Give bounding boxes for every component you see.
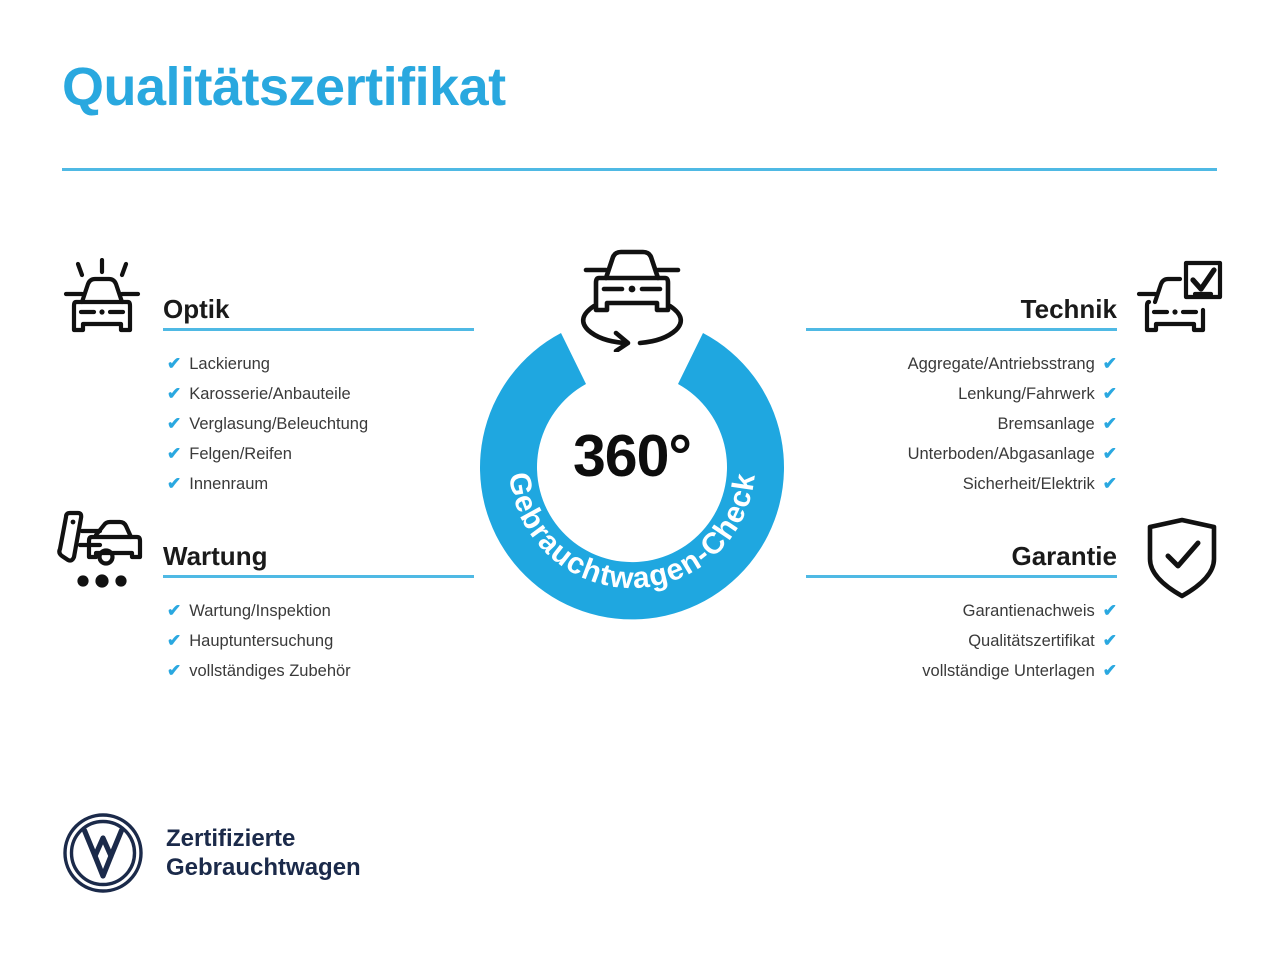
list-item-label: Garantienachweis (963, 596, 1095, 626)
check-icon: ✔ (167, 409, 181, 439)
list-item: vollständige Unterlagen✔ (717, 656, 1117, 686)
vw-lockup-line2: Gebrauchtwagen (166, 853, 361, 882)
list-item-label: vollständiges Zubehör (189, 656, 350, 686)
list-item-label: Qualitätszertifikat (968, 626, 1095, 656)
vw-certified-lockup: Zertifizierte Gebrauchtwagen (62, 812, 361, 894)
check-icon: ✔ (1103, 626, 1117, 656)
list-item-label: Lenkung/Fahrwerk (958, 379, 1095, 409)
check-icon: ✔ (167, 439, 181, 469)
list-item-label: Unterboden/Abgasanlage (908, 439, 1095, 469)
vw-logo (62, 812, 144, 894)
shield-check-icon (1136, 512, 1228, 604)
check-icon: ✔ (167, 349, 181, 379)
check-icon: ✔ (167, 596, 181, 626)
list-item: ✔Hauptuntersuchung (163, 626, 563, 656)
check-icon: ✔ (1103, 596, 1117, 626)
list-item-label: Lackierung (189, 349, 270, 379)
car-checkbox-icon (1132, 258, 1224, 350)
check-icon: ✔ (1103, 656, 1117, 686)
list-item-label: Bremsanlage (998, 409, 1095, 439)
list-item-label: Karosserie/Anbauteile (189, 379, 350, 409)
list-item-label: Felgen/Reifen (189, 439, 292, 469)
title-divider (62, 168, 1217, 171)
list-item: Qualitätszertifikat✔ (717, 626, 1117, 656)
check-icon: ✔ (1103, 439, 1117, 469)
list-item-label: Innenraum (189, 469, 268, 499)
car-shine-icon (56, 258, 148, 350)
list-item: ✔vollständiges Zubehör (163, 656, 563, 686)
check-icon: ✔ (1103, 409, 1117, 439)
page-title: Qualitätszertifikat (62, 58, 506, 117)
car-rotate-icon (566, 244, 698, 352)
list-item-label: Sicherheit/Elektrik (963, 469, 1095, 499)
list-item-label: Verglasung/Beleuchtung (189, 409, 368, 439)
badge-center-label: 360° (473, 427, 791, 486)
vw-lockup-line1: Zertifizierte (166, 824, 361, 853)
check-icon: ✔ (1103, 469, 1117, 499)
check-icon: ✔ (167, 626, 181, 656)
car-service-tools-icon (56, 505, 148, 597)
check-icon: ✔ (1103, 379, 1117, 409)
list-item-label: Aggregate/Antriebsstrang (908, 349, 1095, 379)
list-item-label: Hauptuntersuchung (189, 626, 333, 656)
gebrauchtwagen-check-badge: Gebrauchtwagen-Check 360° (473, 306, 791, 624)
vw-lockup-text: Zertifizierte Gebrauchtwagen (166, 824, 361, 883)
check-icon: ✔ (1103, 349, 1117, 379)
list-item-label: vollständige Unterlagen (922, 656, 1094, 686)
check-icon: ✔ (167, 469, 181, 499)
list-item-label: Wartung/Inspektion (189, 596, 331, 626)
check-icon: ✔ (167, 379, 181, 409)
check-icon: ✔ (167, 656, 181, 686)
